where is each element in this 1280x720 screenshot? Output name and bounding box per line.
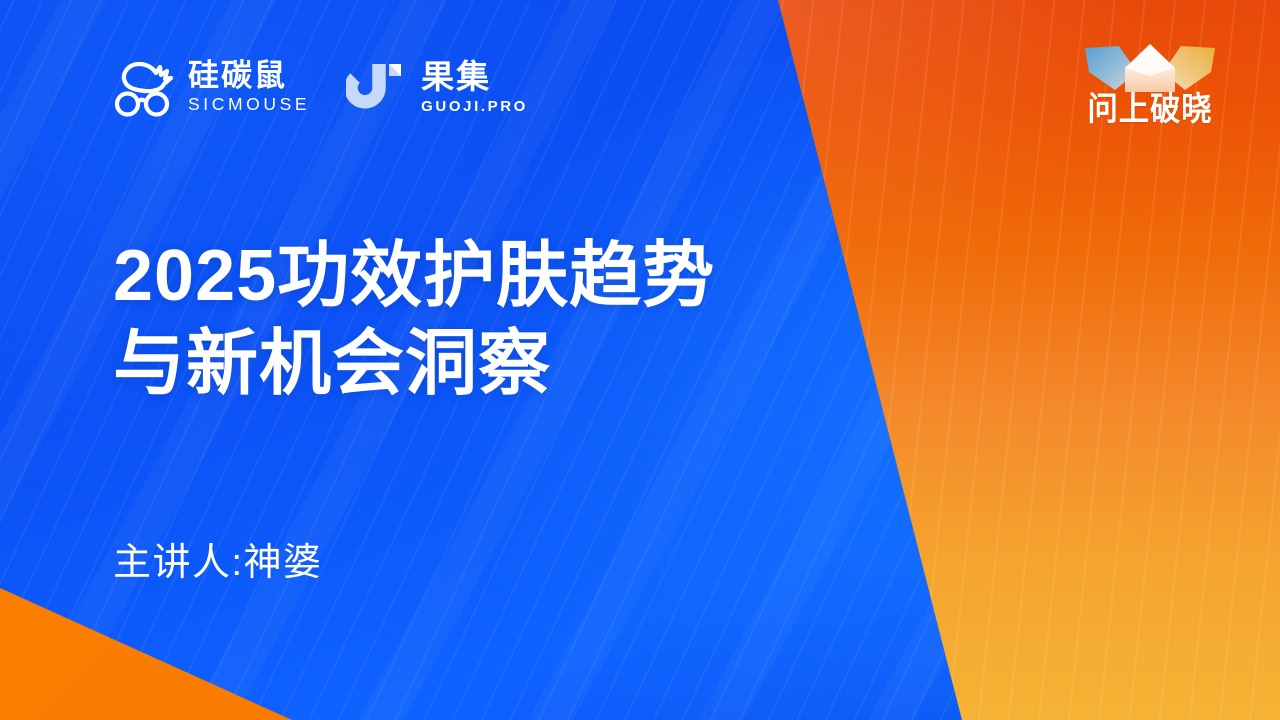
logo-bar: 硅碳鼠 SICMOUSE — [113, 56, 528, 118]
logo-guoji: 果集 GUOJI.PRO — [346, 56, 528, 118]
sicmouse-mouse-icon — [113, 56, 175, 118]
event-badge: 问上破晓 — [1060, 32, 1240, 130]
guoji-name-cn: 果集 — [421, 60, 528, 93]
speaker-line: 主讲人:神婆 — [113, 531, 323, 586]
sicmouse-wordmark: 硅碳鼠 SICMOUSE — [188, 60, 310, 114]
slide-title: 2025功效护肤趋势 与新机会洞察 — [113, 233, 893, 409]
guoji-wordmark: 果集 GUOJI.PRO — [421, 60, 528, 114]
logo-sicmouse: 硅碳鼠 SICMOUSE — [113, 56, 310, 118]
guoji-arc-icon — [346, 56, 408, 118]
sicmouse-name-en: SICMOUSE — [188, 96, 310, 114]
presentation-slide: 硅碳鼠 SICMOUSE — [0, 0, 1280, 720]
sicmouse-name-cn: 硅碳鼠 — [188, 60, 310, 91]
event-badge-text: 问上破晓 — [1087, 82, 1212, 130]
guoji-name-en: GUOJI.PRO — [421, 99, 528, 114]
